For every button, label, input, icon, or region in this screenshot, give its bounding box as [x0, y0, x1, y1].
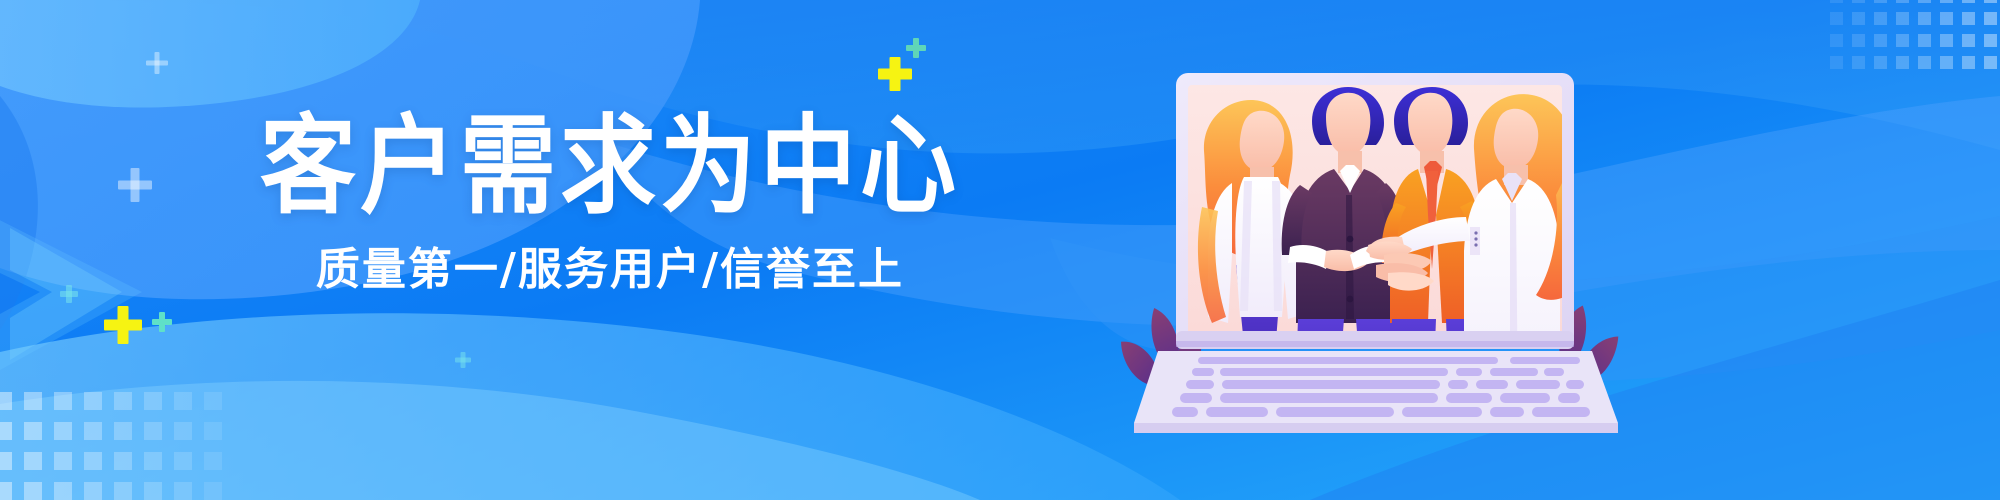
laptop-team-illustration: [1140, 55, 1620, 455]
cross-pale-small-topleft-icon: [146, 52, 168, 74]
cross-pale-large-left-icon: [118, 168, 152, 202]
headline-block: 客户需求为中心 质量第一/服务用户/信誉至上: [250, 110, 970, 297]
cross-teal-tiny-bottomleft-icon: [60, 285, 78, 303]
cross-teal-tiny-bottom-icon: [455, 352, 471, 368]
cross-teal-small-mid-icon: [906, 38, 926, 58]
dot-grid-bottom-left: [0, 392, 234, 500]
cross-yellow-large-bottomleft-icon: [104, 306, 142, 344]
cross-yellow-large-mid-icon: [878, 57, 912, 91]
promo-banner: 客户需求为中心 质量第一/服务用户/信誉至上: [0, 0, 2000, 500]
page-subtitle: 质量第一/服务用户/信誉至上: [250, 244, 970, 297]
cross-teal-small-bottomleft-icon: [152, 312, 172, 332]
dot-grid-top-right: [1830, 0, 2000, 78]
page-title: 客户需求为中心: [250, 110, 970, 224]
